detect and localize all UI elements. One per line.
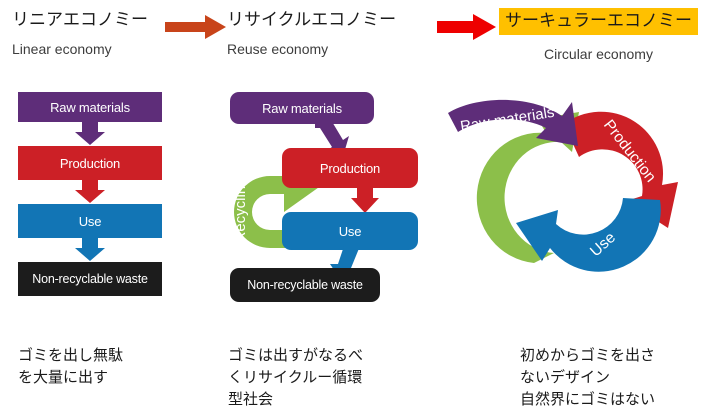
diagram-circular-cycle: Recycling Production Use Raw materials (446, 88, 714, 313)
flow-step-use: Use (282, 212, 418, 250)
flow-step-label: Use (339, 224, 362, 239)
down-arrow-icon (74, 238, 106, 262)
caption-reuse: ゴミは出すがなるべ くリサイクルー循環 型社会 (228, 344, 448, 410)
infographic-canvas: リニアエコノミー Linear economy リサイクルエコノミー Reuse… (0, 0, 720, 414)
flow-step-label: Production (60, 156, 120, 171)
column-header-linear: リニアエコノミー Linear economy (12, 10, 148, 58)
flow-step-use: Use (18, 204, 162, 238)
flow-step-label: Non-recyclable waste (32, 272, 148, 286)
flow-step-label: Production (320, 161, 380, 176)
flow-step-label: Use (79, 214, 102, 229)
down-arrow-icon (74, 180, 106, 204)
down-arrow-icon (74, 122, 106, 146)
flow-step-production: Production (282, 148, 418, 188)
flow-step-label: Raw materials (50, 100, 130, 115)
caption-linear: ゴミを出し無駄 を大量に出す (18, 344, 218, 388)
flow-step-label: Raw materials (262, 101, 342, 116)
column-title-jp-reuse: リサイクルエコノミー (227, 10, 396, 30)
flow-step-raw-materials: Raw materials (230, 92, 374, 124)
flow-step-raw-materials: Raw materials (18, 92, 162, 122)
flow-step-non-recyclable-waste: Non-recyclable waste (18, 262, 162, 296)
transition-arrow-1 (165, 14, 227, 40)
caption-circular: 初めからゴミを出さ ないデザイン 自然界にゴミはない (520, 344, 720, 410)
flow-step-label: Non-recyclable waste (247, 278, 363, 292)
column-subtitle-en-circular: Circular economy (499, 45, 698, 63)
right-arrow-icon (437, 13, 497, 41)
column-title-jp-linear: リニアエコノミー (12, 10, 148, 30)
column-subtitle-en-linear: Linear economy (12, 40, 148, 58)
down-arrow-icon (350, 186, 380, 214)
column-header-reuse: リサイクルエコノミー Reuse economy (227, 10, 396, 58)
flow-step-production: Production (18, 146, 162, 180)
column-title-jp-circular: サーキュラーエコノミー (499, 8, 698, 35)
flow-step-non-recyclable-waste: Non-recyclable waste (230, 268, 380, 302)
transition-arrow-2 (437, 13, 497, 41)
column-header-circular: サーキュラーエコノミー Circular economy (499, 8, 698, 63)
right-arrow-icon (165, 14, 227, 40)
column-subtitle-en-reuse: Reuse economy (227, 40, 396, 58)
recycling-loop-label: Recycling (232, 177, 249, 242)
